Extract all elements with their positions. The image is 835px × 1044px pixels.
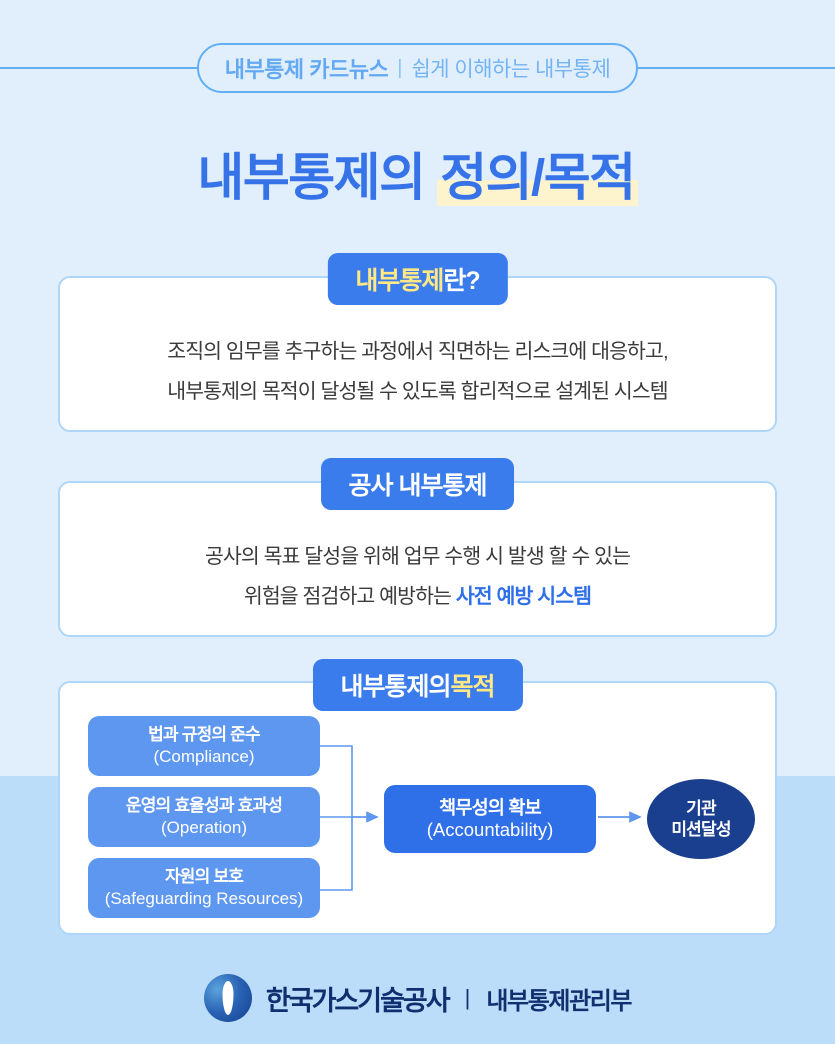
body-line-plain: 위험을 점검하고 예방하는 [244, 585, 456, 608]
card-news-page: 내부통제 카드뉴스 | 쉽게 이해하는 내부통제 내부통제의 정의/목적 내부통… [0, 0, 835, 1044]
body-line: 조직의 임무를 추구하는 과정에서 직면하는 리스크에 대응하고, [0, 332, 835, 372]
diagram-outcome-line1: 기관 [686, 798, 716, 819]
diagram-middle-label-en: (Accountability) [427, 819, 553, 841]
body-line: 위험을 점검하고 예방하는 사전 예방 시스템 [0, 577, 835, 617]
badge-yellow-part: 목적 [451, 667, 495, 703]
diagram-input-label-en: (Compliance) [153, 746, 254, 768]
badge-white-part: 공사 내부통제 [349, 466, 487, 502]
ribbon-separator: | [397, 57, 402, 80]
diagram-input-operation: 운영의 효율성과 효과성 (Operation) [88, 787, 320, 847]
page-title: 내부통제의 정의/목적 [0, 136, 835, 210]
purpose-flow-diagram: 법과 규정의 준수 (Compliance) 운영의 효율성과 효과성 (Ope… [58, 700, 777, 935]
badge-yellow-part: 내부통제 [355, 261, 443, 297]
diagram-middle-label-ko: 책무성의 확보 [439, 797, 541, 819]
diagram-middle-accountability: 책무성의 확보 (Accountability) [384, 785, 596, 853]
diagram-input-label-en: (Operation) [161, 817, 247, 839]
section-badge-corporate: 공사 내부통제 [321, 458, 515, 510]
section-body-definition: 조직의 임무를 추구하는 과정에서 직면하는 리스크에 대응하고, 내부통제의 … [0, 332, 835, 412]
section-body-corporate: 공사의 목표 달성을 위해 업무 수행 시 발생 할 수 있는 위험을 점검하고… [0, 537, 835, 617]
ribbon-rule-left [0, 67, 197, 69]
body-line-accent: 사전 예방 시스템 [456, 585, 591, 608]
diagram-outcome-mission: 기관 미션달성 [647, 779, 755, 859]
diagram-input-label-ko: 운영의 효율성과 효과성 [126, 795, 282, 817]
diagram-outcome-line2: 미션달성 [671, 819, 730, 840]
diagram-input-compliance: 법과 규정의 준수 (Compliance) [88, 716, 320, 776]
diagram-input-safeguarding: 자원의 보호 (Safeguarding Resources) [88, 858, 320, 918]
footer: 한국가스기술공사 | 내부통제관리부 [0, 963, 835, 1033]
page-title-plain: 내부통제의 [197, 149, 437, 206]
top-ribbon: 내부통제 카드뉴스 | 쉽게 이해하는 내부통제 [0, 42, 835, 94]
page-content: 내부통제 카드뉴스 | 쉽게 이해하는 내부통제 내부통제의 정의/목적 내부통… [0, 0, 835, 1044]
ribbon-subtitle: 쉽게 이해하는 내부통제 [411, 53, 610, 83]
body-line: 내부통제의 목적이 달성될 수 있도록 합리적으로 설계된 시스템 [0, 372, 835, 412]
diagram-input-label-ko: 자원의 보호 [165, 866, 243, 888]
section-badge-purpose: 내부통제의 목적 [312, 659, 522, 711]
diagram-input-label-en: (Safeguarding Resources) [105, 888, 303, 910]
body-line: 공사의 목표 달성을 위해 업무 수행 시 발생 할 수 있는 [0, 537, 835, 577]
company-name: 한국가스기술공사 [266, 979, 449, 1018]
footer-separator: | [463, 985, 473, 1011]
section-badge-definition: 내부통제란? [327, 253, 507, 305]
ribbon-rule-right [638, 67, 835, 69]
kogas-tech-logo-icon [204, 974, 252, 1022]
page-title-highlighted: 정의/목적 [437, 149, 637, 206]
diagram-input-label-ko: 법과 규정의 준수 [148, 724, 260, 746]
department-name: 내부통제관리부 [486, 981, 631, 1016]
badge-white-part: 내부통제의 [340, 667, 450, 703]
ribbon-title: 내부통제 카드뉴스 [225, 52, 389, 84]
badge-white-tail: 란? [443, 261, 479, 297]
ribbon-pill: 내부통제 카드뉴스 | 쉽게 이해하는 내부통제 [197, 43, 639, 93]
